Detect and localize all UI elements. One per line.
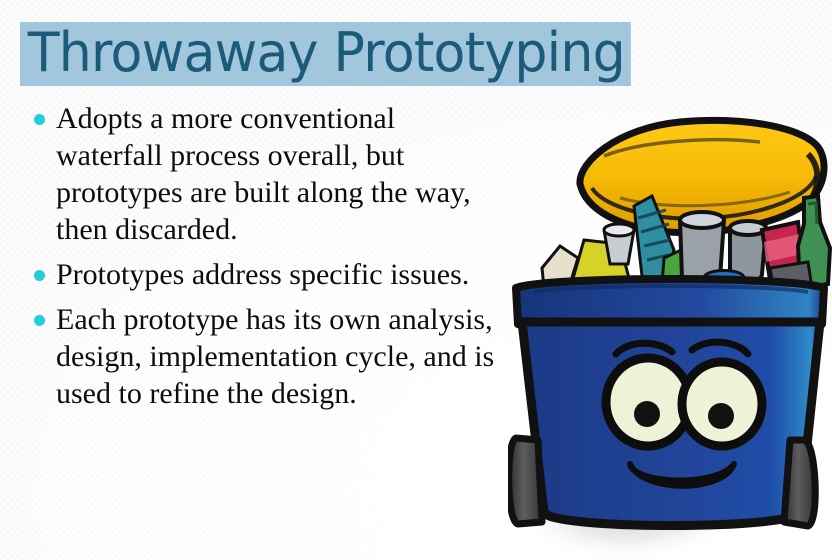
bullet-dot-icon — [34, 270, 45, 281]
bullet-dot-icon — [34, 315, 45, 326]
list-item-text: Each prototype has its own analysis, des… — [56, 303, 494, 410]
list-item: Adopts a more conventional waterfall pro… — [26, 100, 498, 248]
title-container: Throwaway Prototyping — [20, 22, 653, 86]
page-title: Throwaway Prototyping — [20, 22, 631, 86]
list-item: Each prototype has its own analysis, des… — [26, 301, 498, 412]
slide: Throwaway Prototyping Adopts a more conv… — [0, 0, 832, 560]
trash-bin-illustration — [508, 92, 832, 560]
bullet-list: Adopts a more conventional waterfall pro… — [26, 100, 498, 412]
body-content: Adopts a more conventional waterfall pro… — [26, 100, 498, 412]
bin-eye-left — [606, 358, 690, 446]
bullet-dot-icon — [34, 114, 45, 125]
bin-eye-right — [682, 362, 762, 446]
list-item-text: Prototypes address specific issues. — [56, 258, 469, 291]
list-item-text: Adopts a more conventional waterfall pro… — [56, 102, 471, 246]
list-item: Prototypes address specific issues. — [26, 256, 498, 293]
